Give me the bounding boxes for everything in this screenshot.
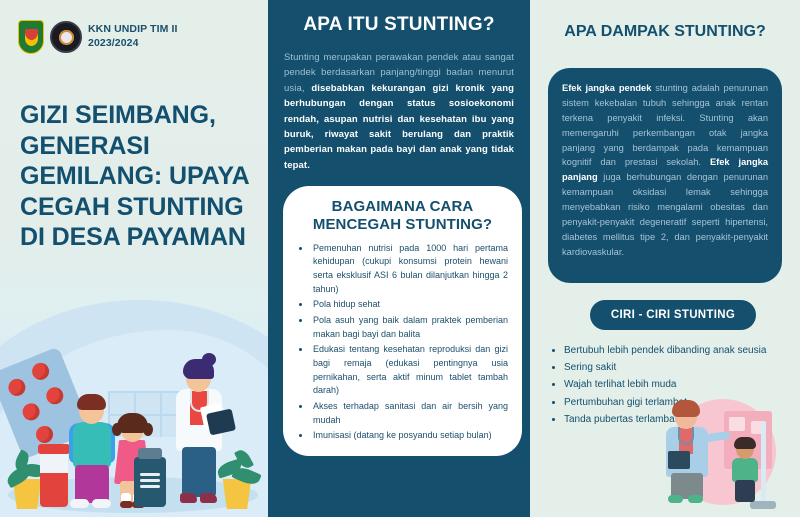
organization-text: KKN UNDIP TIM II 2023/2024: [88, 23, 178, 51]
jawa-tengah-emblem-icon: [18, 20, 44, 54]
apa-itu-text-bold: disebabkan kekurangan gizi kronik yang b…: [284, 83, 514, 171]
list-item: Akses terhadap sanitasi dan air bersih y…: [311, 400, 508, 427]
dampak-normal-2: juga berhubungan dengan penurunan kemamp…: [562, 172, 768, 256]
boy-figure: [70, 397, 114, 509]
infographic-poster: KKN UNDIP TIM II 2023/2024 GIZI SEIMBANG…: [0, 0, 800, 517]
list-item: Sering sakit: [564, 361, 774, 375]
stethoscope-icon: [678, 427, 694, 445]
list-item: Imunisasi (datang ke posyandu setiap bul…: [311, 429, 508, 443]
logo-group: KKN UNDIP TIM II 2023/2024: [18, 20, 178, 54]
undip-emblem-icon: [50, 21, 82, 53]
section-title-apa-itu-stunting: APA ITU STUNTING?: [268, 14, 530, 36]
section-title-bagaimana-cara-mencegah: BAGAIMANA CARA MENCEGAH STUNTING?: [297, 198, 508, 235]
list-item: Pola hidup sehat: [311, 298, 508, 312]
children-doctor-illustration: [0, 302, 268, 517]
list-item: Bertubuh lebih pendek dibanding anak seu…: [564, 344, 774, 358]
page-title: GIZI SEIMBANG, GENERASI GEMILANG: UPAYA …: [20, 100, 258, 253]
pencegahan-card: BAGAIMANA CARA MENCEGAH STUNTING? Pemenu…: [283, 186, 522, 456]
dampak-body-text: Efek jangka pendek stunting adalah penur…: [562, 81, 768, 260]
medicine-jar-icon: [40, 451, 68, 507]
dampak-normal-1: stunting adalah penurunan sistem kekebal…: [562, 83, 768, 167]
list-item: Edukasi tentang kesehatan reproduksi dan…: [311, 343, 508, 398]
list-item: Pola asuh yang baik dalam praktek pember…: [311, 314, 508, 341]
doctor-figure: [172, 359, 226, 509]
stadiometer-pole: [761, 421, 766, 507]
list-item: Pemenuhan nutrisi pada 1000 hari pertama…: [311, 242, 508, 297]
dampak-bold-jangka-pendek: Efek jangka pendek: [562, 83, 651, 93]
pencegahan-list: Pemenuhan nutrisi pada 1000 hari pertama…: [311, 242, 508, 443]
apa-itu-stunting-body: Stunting merupakan perawakan pendek atau…: [284, 50, 514, 173]
clipboard-icon: [668, 451, 690, 469]
right-panel: APA DAMPAK STUNTING? Efek jangka pendek …: [530, 0, 800, 517]
clipboard-icon: [206, 409, 236, 436]
org-line-2: 2023/2024: [88, 37, 178, 51]
org-line-1: KKN UNDIP TIM II: [88, 23, 178, 37]
supplement-bottle-icon: [134, 457, 166, 507]
section-title-apa-dampak-stunting: APA DAMPAK STUNTING?: [530, 22, 800, 42]
center-panel: APA ITU STUNTING? Stunting merupakan per…: [268, 0, 530, 517]
list-item: Wajah terlihat lebih muda: [564, 378, 774, 392]
doctor-figure-right: [662, 401, 714, 505]
left-panel: KKN UNDIP TIM II 2023/2024 GIZI SEIMBANG…: [0, 0, 268, 517]
child-figure-right: [730, 439, 760, 505]
section-badge-ciri-ciri-stunting: CIRI - CIRI STUNTING: [590, 300, 756, 330]
dampak-card: Efek jangka pendek stunting adalah penur…: [548, 68, 782, 283]
height-measurement-illustration: [644, 393, 794, 513]
